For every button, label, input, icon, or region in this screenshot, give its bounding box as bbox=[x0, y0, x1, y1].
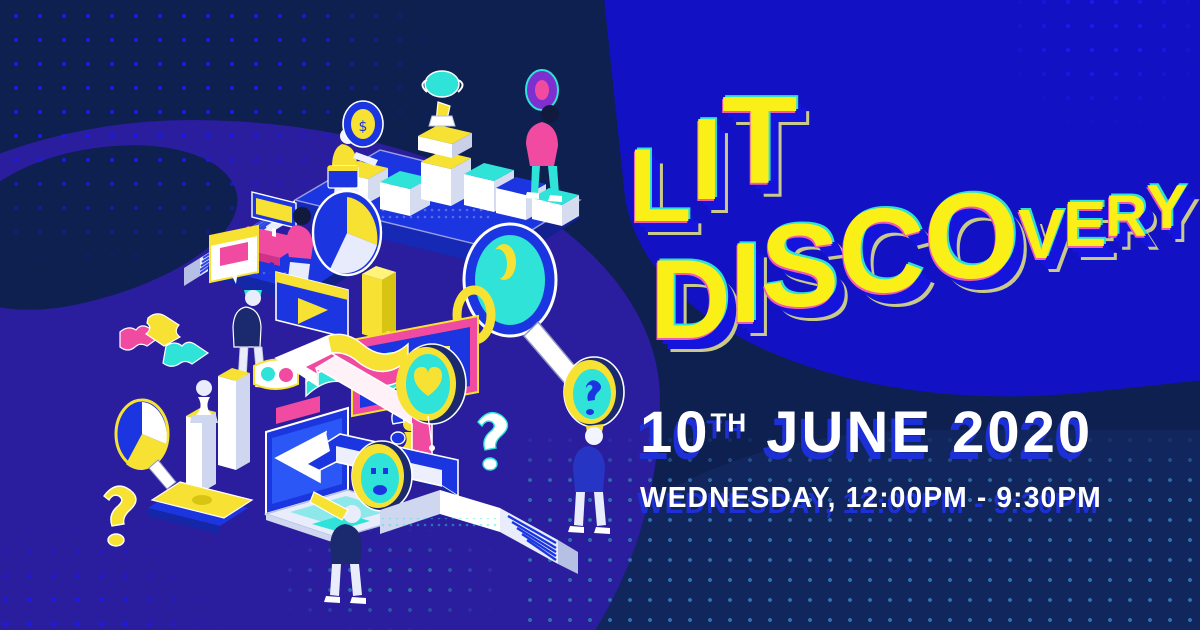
magnifier-small bbox=[116, 400, 176, 489]
headline-char: C bbox=[838, 182, 924, 320]
headline-char: O bbox=[924, 166, 1018, 306]
headline-char: I bbox=[730, 218, 761, 349]
money-stack bbox=[148, 482, 252, 534]
event-weekday-time: WEDNESDAY, 12:00PM - 9:30PM bbox=[640, 482, 1144, 515]
headline-char: E bbox=[1064, 187, 1106, 261]
headline-char: S bbox=[761, 198, 839, 334]
event-month-year: JUNE 2020 bbox=[747, 400, 1093, 465]
headline: LIT DISCOVERY bbox=[598, 78, 1198, 328]
coin-stack: $ bbox=[343, 101, 383, 147]
event-date-line: 10TH JUNE 2020 bbox=[640, 404, 1160, 462]
event-banner: $ bbox=[0, 0, 1200, 630]
person-on-path bbox=[568, 424, 610, 534]
headline-char: V bbox=[1018, 194, 1064, 274]
pie-chart-circle bbox=[313, 191, 381, 275]
event-date-block: 10TH JUNE 2020 WEDNESDAY, 12:00PM - 9:30… bbox=[640, 404, 1160, 515]
badge-question bbox=[564, 357, 624, 427]
headline-line-2: DISCOVERY bbox=[650, 182, 1187, 322]
svg-text:$: $ bbox=[359, 119, 368, 135]
pillars bbox=[186, 368, 250, 492]
event-day-ordinal: TH bbox=[711, 408, 748, 438]
staircase-lower bbox=[380, 490, 578, 574]
trophy bbox=[418, 71, 472, 158]
event-day: 10 bbox=[640, 400, 711, 465]
headline-char: D bbox=[650, 235, 730, 364]
puzzle-pieces bbox=[120, 314, 208, 366]
headline-char: Y bbox=[1146, 172, 1186, 243]
bar-column bbox=[362, 266, 396, 340]
badge-face bbox=[352, 441, 412, 511]
headline-char: R bbox=[1105, 183, 1146, 250]
